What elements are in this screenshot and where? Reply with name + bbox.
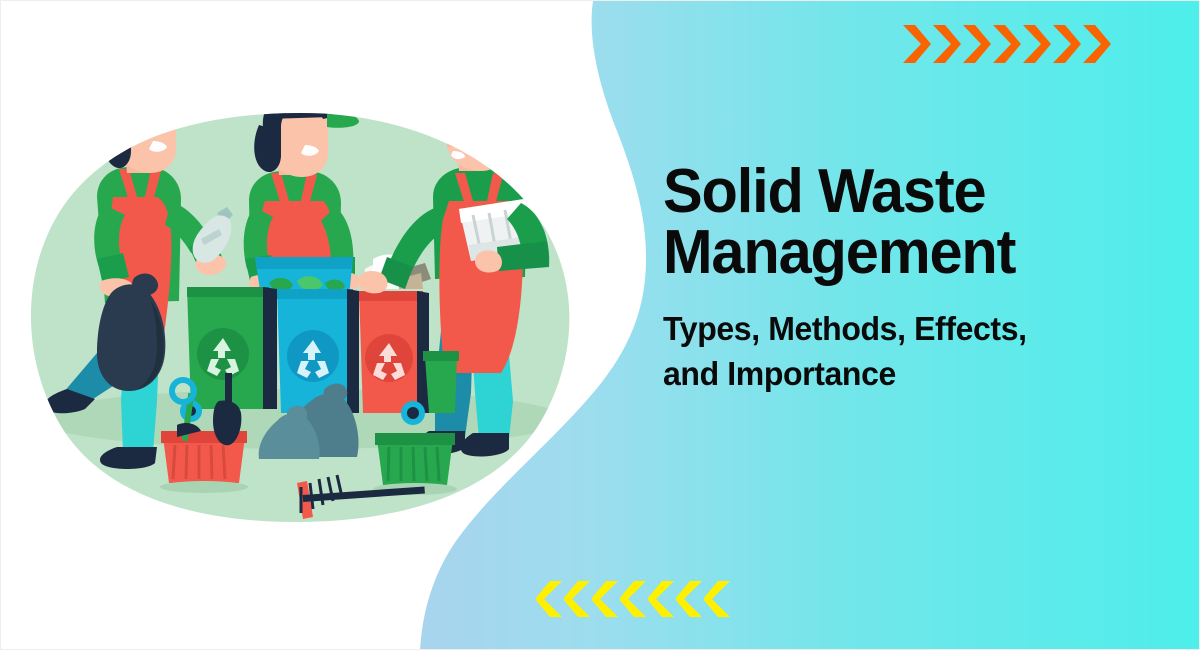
chevron-right-icon [1081,23,1111,65]
subtitle-line-1: Types, Methods, Effects, [663,310,1027,347]
chevron-left-icon [564,579,592,619]
yellow-chevrons-left [536,579,732,619]
chevron-right-icon [1051,23,1081,65]
green-basket [373,433,457,495]
page-title: Solid Waste Management [663,161,1153,284]
chevron-right-icon [961,23,991,65]
chevron-right-icon [931,23,961,65]
orange-chevrons-right [901,23,1111,65]
solid-waste-management-banner: Solid Waste Management Types, Methods, E… [0,0,1200,650]
chevron-left-icon [620,579,648,619]
chevron-right-icon [1021,23,1051,65]
headline-block: Solid Waste Management Types, Methods, E… [663,161,1173,397]
chevron-left-icon [704,579,732,619]
chevron-left-icon [676,579,704,619]
chevron-left-icon [536,579,564,619]
chevron-right-icon [901,23,931,65]
chevron-right-icon [991,23,1021,65]
chevron-left-icon [592,579,620,619]
chevron-left-icon [648,579,676,619]
subtitle-line-2: and Importance [663,355,896,392]
small-green-bin [423,351,459,413]
page-subtitle: Types, Methods, Effects, and Importance [663,306,1158,397]
